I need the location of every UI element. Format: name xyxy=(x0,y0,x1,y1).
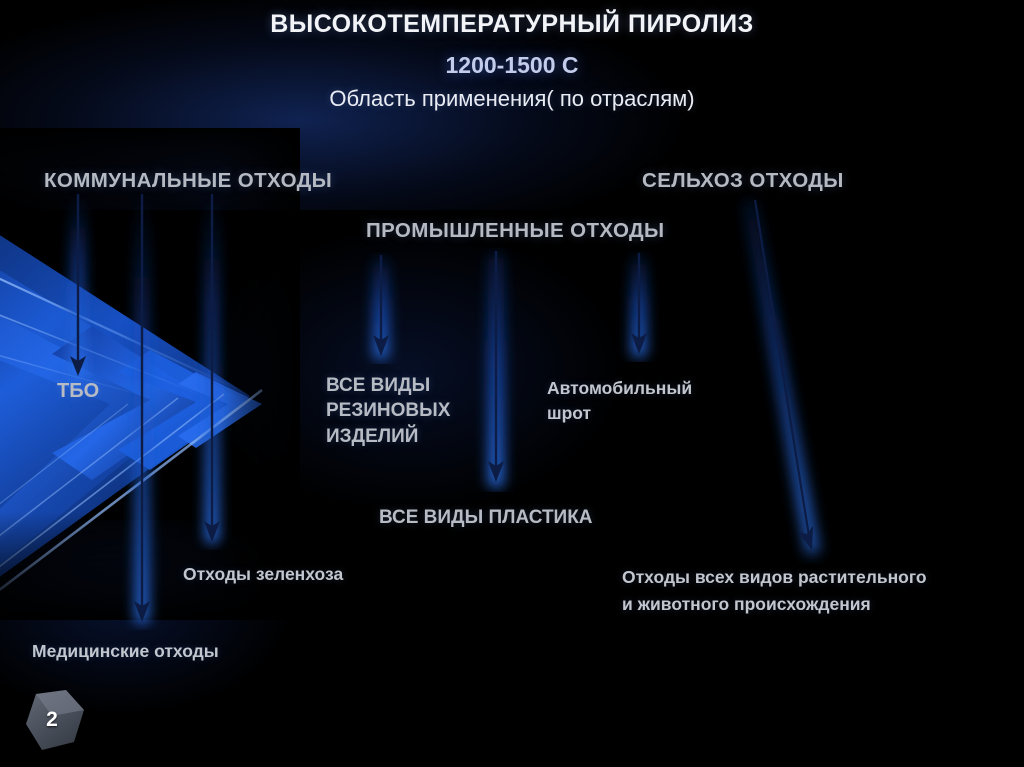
label-green-waste: Отходы зеленхоза xyxy=(183,563,343,585)
label-medical-waste: Медицинские отходы xyxy=(32,640,219,662)
arrow-all-plastics xyxy=(464,248,528,492)
chevron-artwork xyxy=(0,128,300,620)
page-number: 2 xyxy=(22,708,82,732)
arrow-rubber-products xyxy=(349,252,413,364)
slide-subtitle: Область применения( по отраслям) xyxy=(0,86,1024,112)
header-municipal-waste: КОММУНАЛЬНЫЕ ОТХОДЫ xyxy=(44,168,332,194)
label-organic-waste: Отходы всех видов растительного и животн… xyxy=(622,564,927,618)
arrow-auto-meal xyxy=(607,250,671,362)
header-agricultural-waste: СЕЛЬХОЗ ОТХОДЫ xyxy=(642,168,844,194)
header-industrial-waste: ПРОМЫШЛЕННЫЕ ОТХОДЫ xyxy=(366,218,665,244)
label-rubber-products: ВСЕ ВИДЫ РЕЗИНОВЫХ ИЗДЕЛИЙ xyxy=(326,373,450,449)
label-all-plastics: ВСЕ ВИДЫ ПЛАСТИКА xyxy=(379,506,593,530)
arrow-organic-waste xyxy=(722,192,850,564)
label-tbo: ТБО xyxy=(57,379,99,405)
slide-title: ВЫСОКОТЕМПЕРАТУРНЫЙ ПИРОЛИЗ xyxy=(0,10,1024,39)
label-auto-meal: Автомобильный шрот xyxy=(547,376,692,427)
temperature-range: 1200-1500 C xyxy=(0,52,1024,79)
slide-canvas: ВЫСОКОТЕМПЕРАТУРНЫЙ ПИРОЛИЗ 1200-1500 C … xyxy=(0,0,1024,767)
page-number-badge: 2 xyxy=(22,688,96,758)
